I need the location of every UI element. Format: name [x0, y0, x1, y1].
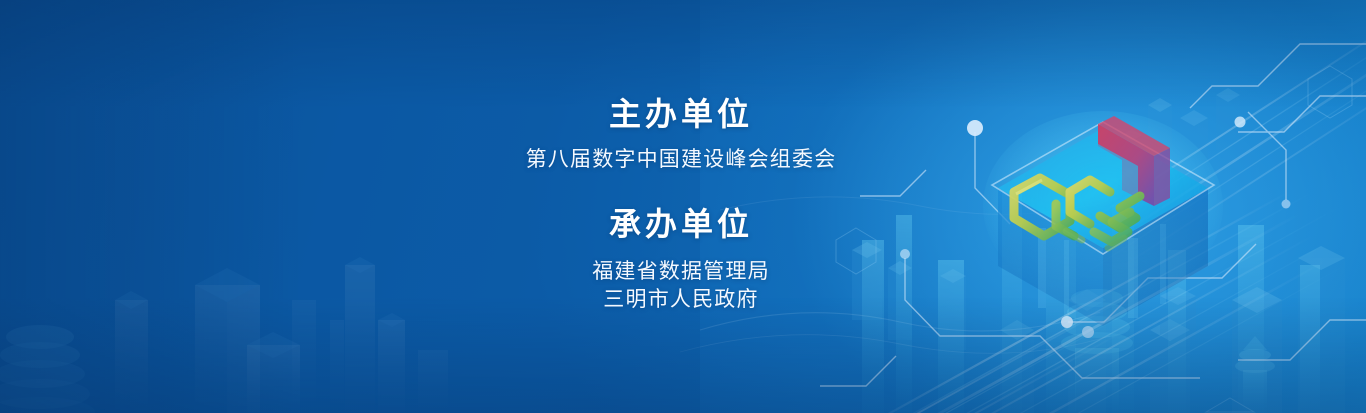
organizer-heading: 主办单位: [421, 98, 941, 130]
section-spacer: [421, 175, 941, 208]
host-name-line-1: 福建省数据管理局: [421, 258, 941, 287]
summit-organizer-banner: 主办单位 第八届数字中国建设峰会组委会 承办单位 福建省数据管理局 三明市人民政…: [0, 0, 1366, 413]
organizer-name: 第八届数字中国建设峰会组委会: [421, 146, 941, 175]
host-name-line-2: 三明市人民政府: [421, 286, 941, 315]
text-column: 主办单位 第八届数字中国建设峰会组委会 承办单位 福建省数据管理局 三明市人民政…: [421, 98, 941, 316]
organizer-text-content: 主办单位 第八届数字中国建设峰会组委会 承办单位 福建省数据管理局 三明市人民政…: [0, 0, 1366, 413]
host-heading: 承办单位: [421, 208, 941, 240]
